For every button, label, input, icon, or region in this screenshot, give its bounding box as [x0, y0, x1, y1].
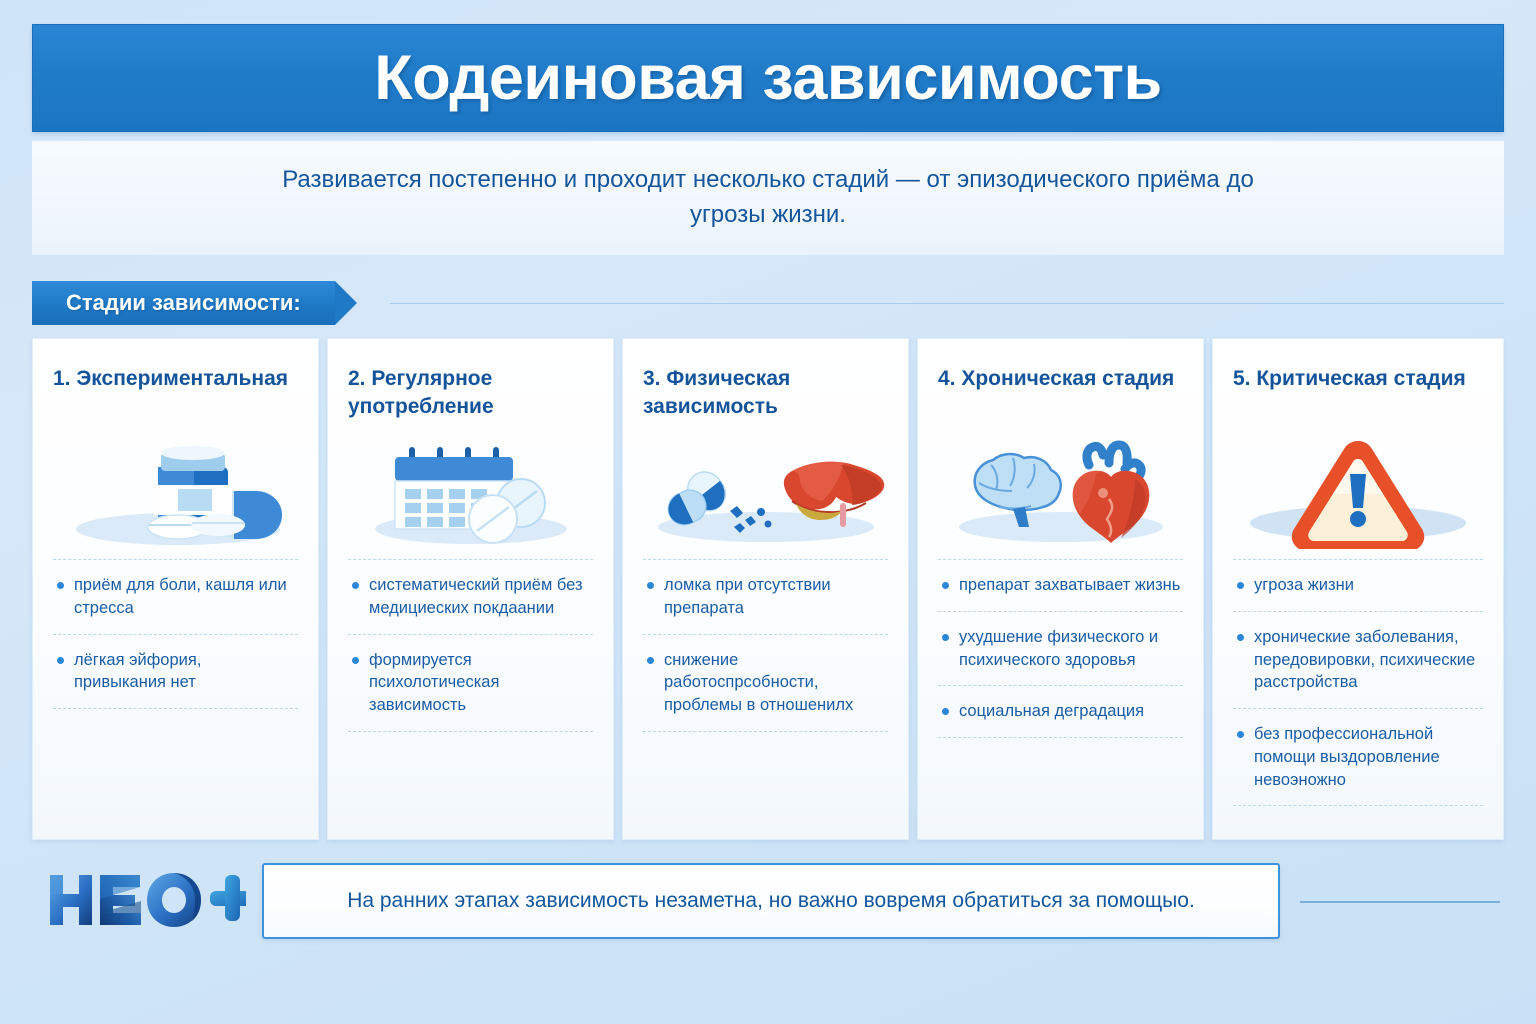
bullet-text: угроза жизни [1254, 574, 1481, 597]
stage-card[interactable]: 1. Экспериментальная [32, 338, 319, 840]
list-item: без профессиональной помощи выздоровлени… [1233, 708, 1483, 806]
bullet-text: ухудшение физического и психического здо… [959, 626, 1181, 672]
footer: На ранних этапах зависимость незаметна, … [0, 855, 1536, 965]
list-item: приём для боли, кашля или стресса [53, 559, 298, 634]
page-title: Кодеиновая зависимость [374, 42, 1161, 114]
subtitle-panel: Развивается постепенно и проходит нескол… [32, 140, 1504, 255]
bullet-text: без профессиональной помощи выздоровлени… [1254, 723, 1481, 791]
stage-card[interactable]: 4. Хроническая стадия [917, 338, 1204, 840]
bullet-text: препарат захватывает жизнь [959, 574, 1181, 597]
footer-note-box: На ранних этапах зависимость незаметна, … [262, 863, 1280, 939]
list-item: ломка при отсутствии препарата [643, 559, 888, 634]
bullet-dot-icon [942, 634, 949, 641]
bullet-text: хронические заболевания, передовировки, … [1254, 626, 1481, 694]
bullet-text: лёгкая эйфория, привыкания нет [74, 649, 296, 695]
bullet-dot-icon [57, 582, 64, 589]
bullet-text: формируется психолотическая зависимость [369, 649, 591, 717]
section-ribbon-row: Стадии зависимости: [0, 281, 1536, 325]
ribbon-rule [390, 303, 1504, 304]
list-item: систематический приём без медициеских по… [348, 559, 593, 634]
list-item: снижение работоспрсобности, проблемы в о… [643, 634, 888, 732]
bullet-text: приём для боли, кашля или стресса [74, 574, 296, 620]
footer-rule [1300, 901, 1500, 903]
infographic-poster: Кодеиновая зависимость Развивается посте… [0, 0, 1536, 1024]
list-item: ухудшение физического и психического здо… [938, 611, 1183, 686]
subtitle-text: Развивается постепенно и проходит нескол… [258, 163, 1278, 233]
list-item: препарат захватывает жизнь [938, 559, 1183, 611]
calendar-pills-icon [348, 431, 593, 549]
capsule-liver-icon [643, 431, 888, 549]
bullet-dot-icon [1237, 731, 1244, 738]
bullet-text: систематический приём без медициеских по… [369, 574, 591, 620]
stage-card-title: 1. Экспериментальная [53, 365, 298, 425]
bullet-dot-icon [57, 657, 64, 664]
bullet-dot-icon [942, 582, 949, 589]
brand-logo[interactable] [46, 869, 246, 931]
stage-card-title: 5. Критическая стадия [1233, 365, 1483, 425]
stage-card-title: 2. Регулярное употребление [348, 365, 593, 425]
stage-card-list: 1. Экспериментальная [32, 338, 1504, 840]
stage-card-bullets: приём для боли, кашля или стресса лёгкая… [53, 559, 298, 709]
footer-note-text: На ранних этапах зависимость незаметна, … [347, 889, 1195, 913]
bullet-dot-icon [1237, 582, 1244, 589]
stage-card[interactable]: 3. Физическая зависимость [622, 338, 909, 840]
list-item: угроза жизни [1233, 559, 1483, 611]
stage-card-bullets: систематический приём без медициеских по… [348, 559, 593, 732]
stage-card-title: 3. Физическая зависимость [643, 365, 888, 425]
list-item: лёгкая эйфория, привыкания нет [53, 634, 298, 710]
pill-bottle-icon [53, 431, 298, 549]
bullet-dot-icon [647, 657, 654, 664]
list-item: социальная деградация [938, 685, 1183, 738]
header-bar: Кодеиновая зависимость [32, 24, 1504, 132]
bullet-text: ломка при отсутствии препарата [664, 574, 886, 620]
stage-card-bullets: препарат захватывает жизнь ухудшение физ… [938, 559, 1183, 738]
stage-card-bullets: ломка при отсутствии препарата снижение … [643, 559, 888, 732]
stage-card[interactable]: 5. Критическая стадия угроза жизни [1212, 338, 1504, 840]
bullet-dot-icon [647, 582, 654, 589]
section-ribbon-label: Стадии зависимости: [66, 290, 301, 316]
bullet-dot-icon [942, 708, 949, 715]
bullet-dot-icon [352, 657, 359, 664]
stage-card-title: 4. Хроническая стадия [938, 365, 1183, 425]
warning-triangle-icon [1233, 431, 1483, 549]
section-ribbon: Стадии зависимости: [32, 281, 335, 325]
stage-card-bullets: угроза жизни хронические заболевания, пе… [1233, 559, 1483, 806]
bullet-text: снижение работоспрсобности, проблемы в о… [664, 649, 886, 717]
bullet-dot-icon [352, 582, 359, 589]
list-item: хронические заболевания, передовировки, … [1233, 611, 1483, 708]
brain-heart-icon [938, 431, 1183, 549]
bullet-text: социальная деградация [959, 700, 1181, 723]
bullet-dot-icon [1237, 634, 1244, 641]
stage-card[interactable]: 2. Регулярное употребление [327, 338, 614, 840]
list-item: формируется психолотическая зависимость [348, 634, 593, 732]
